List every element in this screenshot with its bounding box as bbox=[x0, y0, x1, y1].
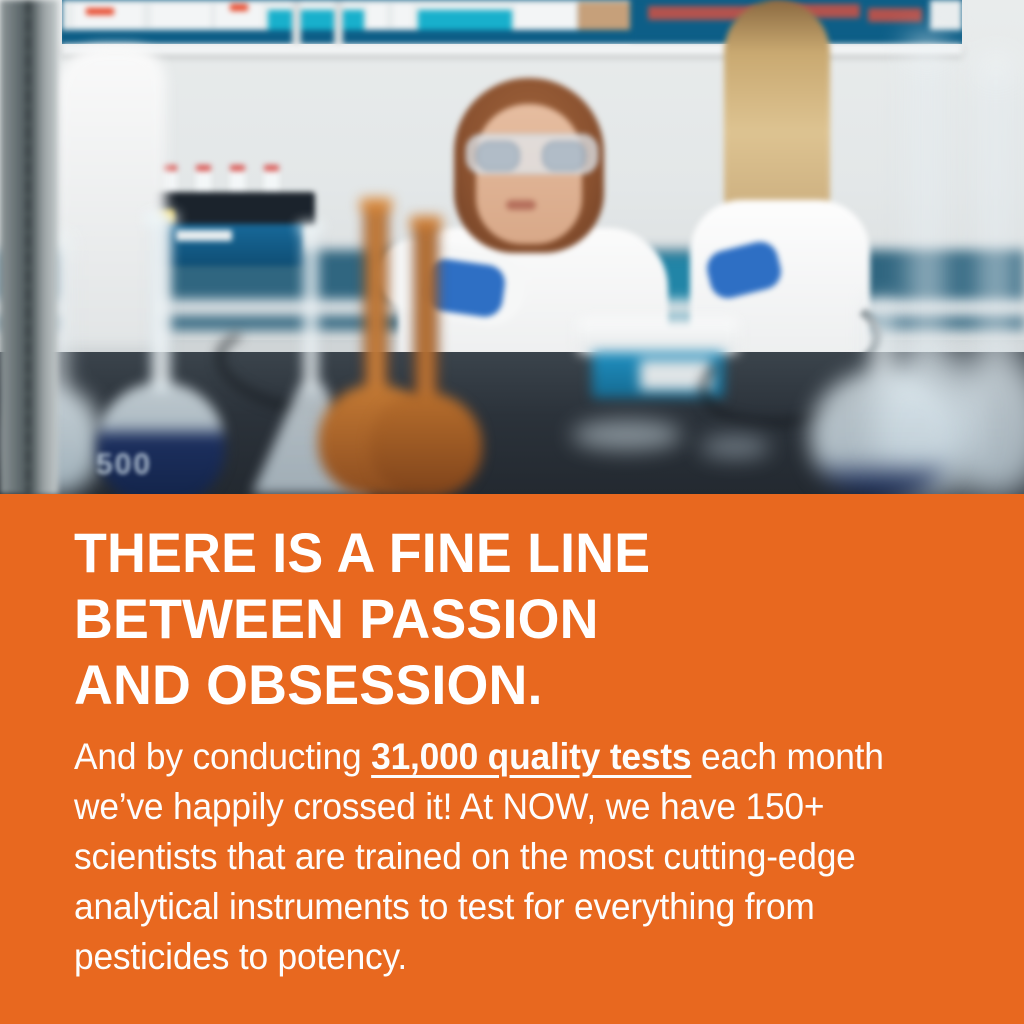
headline: THERE IS A FINE LINE BETWEEN PASSION AND… bbox=[74, 520, 919, 718]
flask-volume-label: 500 bbox=[96, 448, 152, 482]
safety-goggles bbox=[466, 134, 598, 174]
body-copy-before: And by conducting bbox=[74, 736, 371, 777]
foreground-flask-amber-2 bbox=[368, 216, 484, 494]
orange-text-panel: THERE IS A FINE LINE BETWEEN PASSION AND… bbox=[0, 494, 1024, 1024]
body-copy: And by conducting 31,000 quality tests e… bbox=[74, 732, 914, 982]
marketing-graphic: 500 bbox=[0, 0, 1024, 1024]
petri-dish bbox=[700, 436, 770, 458]
lab-photo: 500 bbox=[0, 0, 1024, 494]
structural-post bbox=[0, 0, 58, 494]
body-copy-highlight: 31,000 quality tests bbox=[371, 736, 691, 777]
petri-dish bbox=[572, 420, 682, 450]
foreground-flask-right-3 bbox=[808, 300, 958, 494]
